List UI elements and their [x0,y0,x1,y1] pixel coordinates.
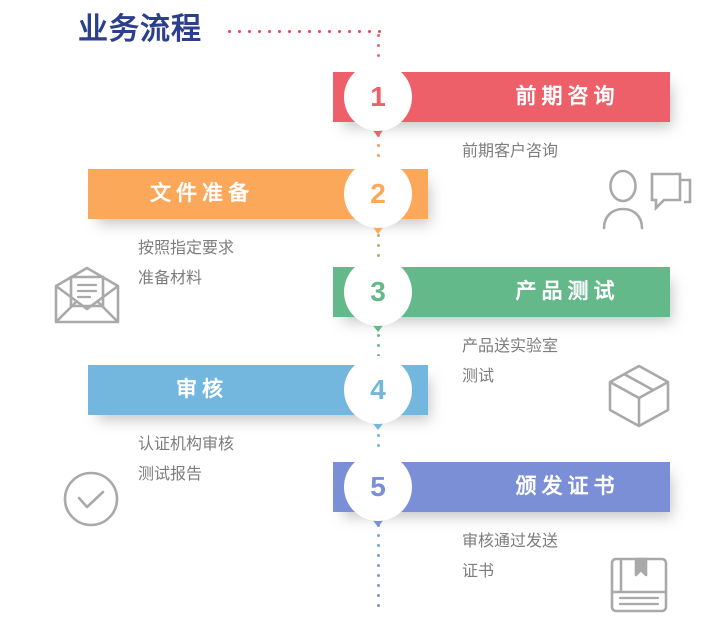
step-number-bubble-1[interactable]: 1 [344,63,412,131]
step-number-circle-4: 4 [344,356,412,424]
page-title: 业务流程 [78,4,202,48]
step-label-5: 颁发证书 [465,462,670,512]
step-label-4: 审核 [88,365,316,415]
step-number-bubble-3[interactable]: 3 [344,258,412,326]
package-box-icon [605,362,673,435]
step-label-2: 文件准备 [88,169,316,219]
step-number-3: 3 [370,276,386,308]
step-description-2: 按照指定要求 准备材料 [138,234,358,294]
step-number-5: 5 [370,471,386,503]
check-circle-icon [60,468,122,535]
connector-dots-horizontal [228,30,380,34]
step-label-1: 前期咨询 [465,72,670,122]
step-number-1: 1 [370,81,386,113]
step-number-bubble-5[interactable]: 5 [344,453,412,521]
step-number-circle-3: 3 [344,258,412,326]
step-number-2: 2 [370,178,386,210]
step-label-3: 产品测试 [465,267,670,317]
step-number-4: 4 [370,374,386,406]
step-number-circle-1: 1 [344,63,412,131]
step-description-4: 认证机构审核 测试报告 [138,430,358,490]
book-icon [608,556,670,619]
envelope-icon [52,264,122,331]
step-number-circle-2: 2 [344,160,412,228]
step-description-1: 前期客户咨询 [462,137,682,167]
step-number-bubble-4[interactable]: 4 [344,356,412,424]
flowchart-canvas: 业务流程 前期咨询 1 前期客户咨询 文件准备 2 按照指定要求 准备材料 [0,0,701,618]
person-chat-icon [600,168,692,235]
step-number-circle-5: 5 [344,453,412,521]
step-number-bubble-2[interactable]: 2 [344,160,412,228]
